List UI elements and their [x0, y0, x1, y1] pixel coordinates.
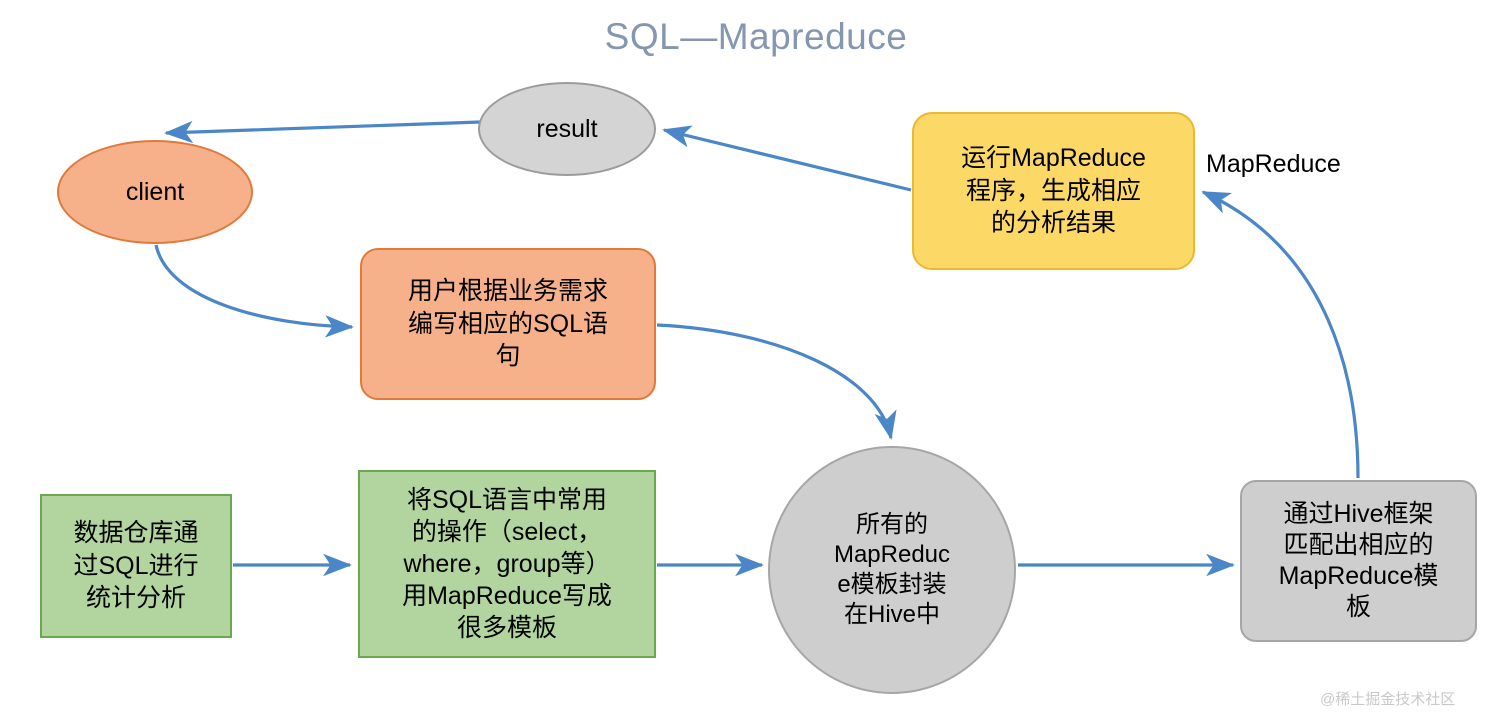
- node-hive-circle[interactable]: 所有的 MapReduc e模板封装 在Hive中: [768, 446, 1016, 694]
- node-client-label: client: [59, 178, 251, 207]
- node-data-warehouse[interactable]: 数据仓库通 过SQL进行 统计分析: [40, 494, 232, 638]
- edge-client-to-sqlwrite: [156, 245, 352, 327]
- node-hive-circle-label: 所有的 MapReduc e模板封装 在Hive中: [770, 510, 1014, 631]
- edge-sqlwrite-to-hivecircle: [657, 325, 891, 438]
- edge-hivematch-to-mapreducerun: [1203, 192, 1358, 478]
- edge-result-to-client: [166, 122, 480, 133]
- watermark: @稀土掘金技术社区: [1320, 688, 1455, 709]
- node-sql-write[interactable]: 用户根据业务需求 编写相应的SQL语 句: [360, 248, 656, 400]
- node-data-warehouse-label: 数据仓库通 过SQL进行 统计分析: [42, 517, 230, 615]
- edge-mapreducerun-to-result: [664, 130, 911, 190]
- page-title: SQL—Mapreduce: [0, 16, 1512, 58]
- node-result-label: result: [480, 115, 654, 144]
- node-result[interactable]: result: [478, 82, 656, 176]
- edge-label-mapreduce: MapReduce: [1206, 150, 1341, 179]
- node-sql-write-label: 用户根据业务需求 编写相应的SQL语 句: [362, 275, 654, 373]
- node-sql-template[interactable]: 将SQL语言中常用 的操作（select， where，group等） 用Map…: [358, 470, 656, 658]
- node-mapreduce-run-label: 运行MapReduce 程序，生成相应 的分析结果: [914, 142, 1193, 240]
- node-mapreduce-run[interactable]: 运行MapReduce 程序，生成相应 的分析结果: [912, 112, 1195, 270]
- node-hive-match-label: 通过Hive框架 匹配出相应的 MapReduce模 板: [1242, 499, 1475, 624]
- node-client[interactable]: client: [57, 140, 253, 244]
- node-sql-template-label: 将SQL语言中常用 的操作（select， where，group等） 用Map…: [360, 484, 654, 644]
- node-hive-match[interactable]: 通过Hive框架 匹配出相应的 MapReduce模 板: [1240, 480, 1477, 642]
